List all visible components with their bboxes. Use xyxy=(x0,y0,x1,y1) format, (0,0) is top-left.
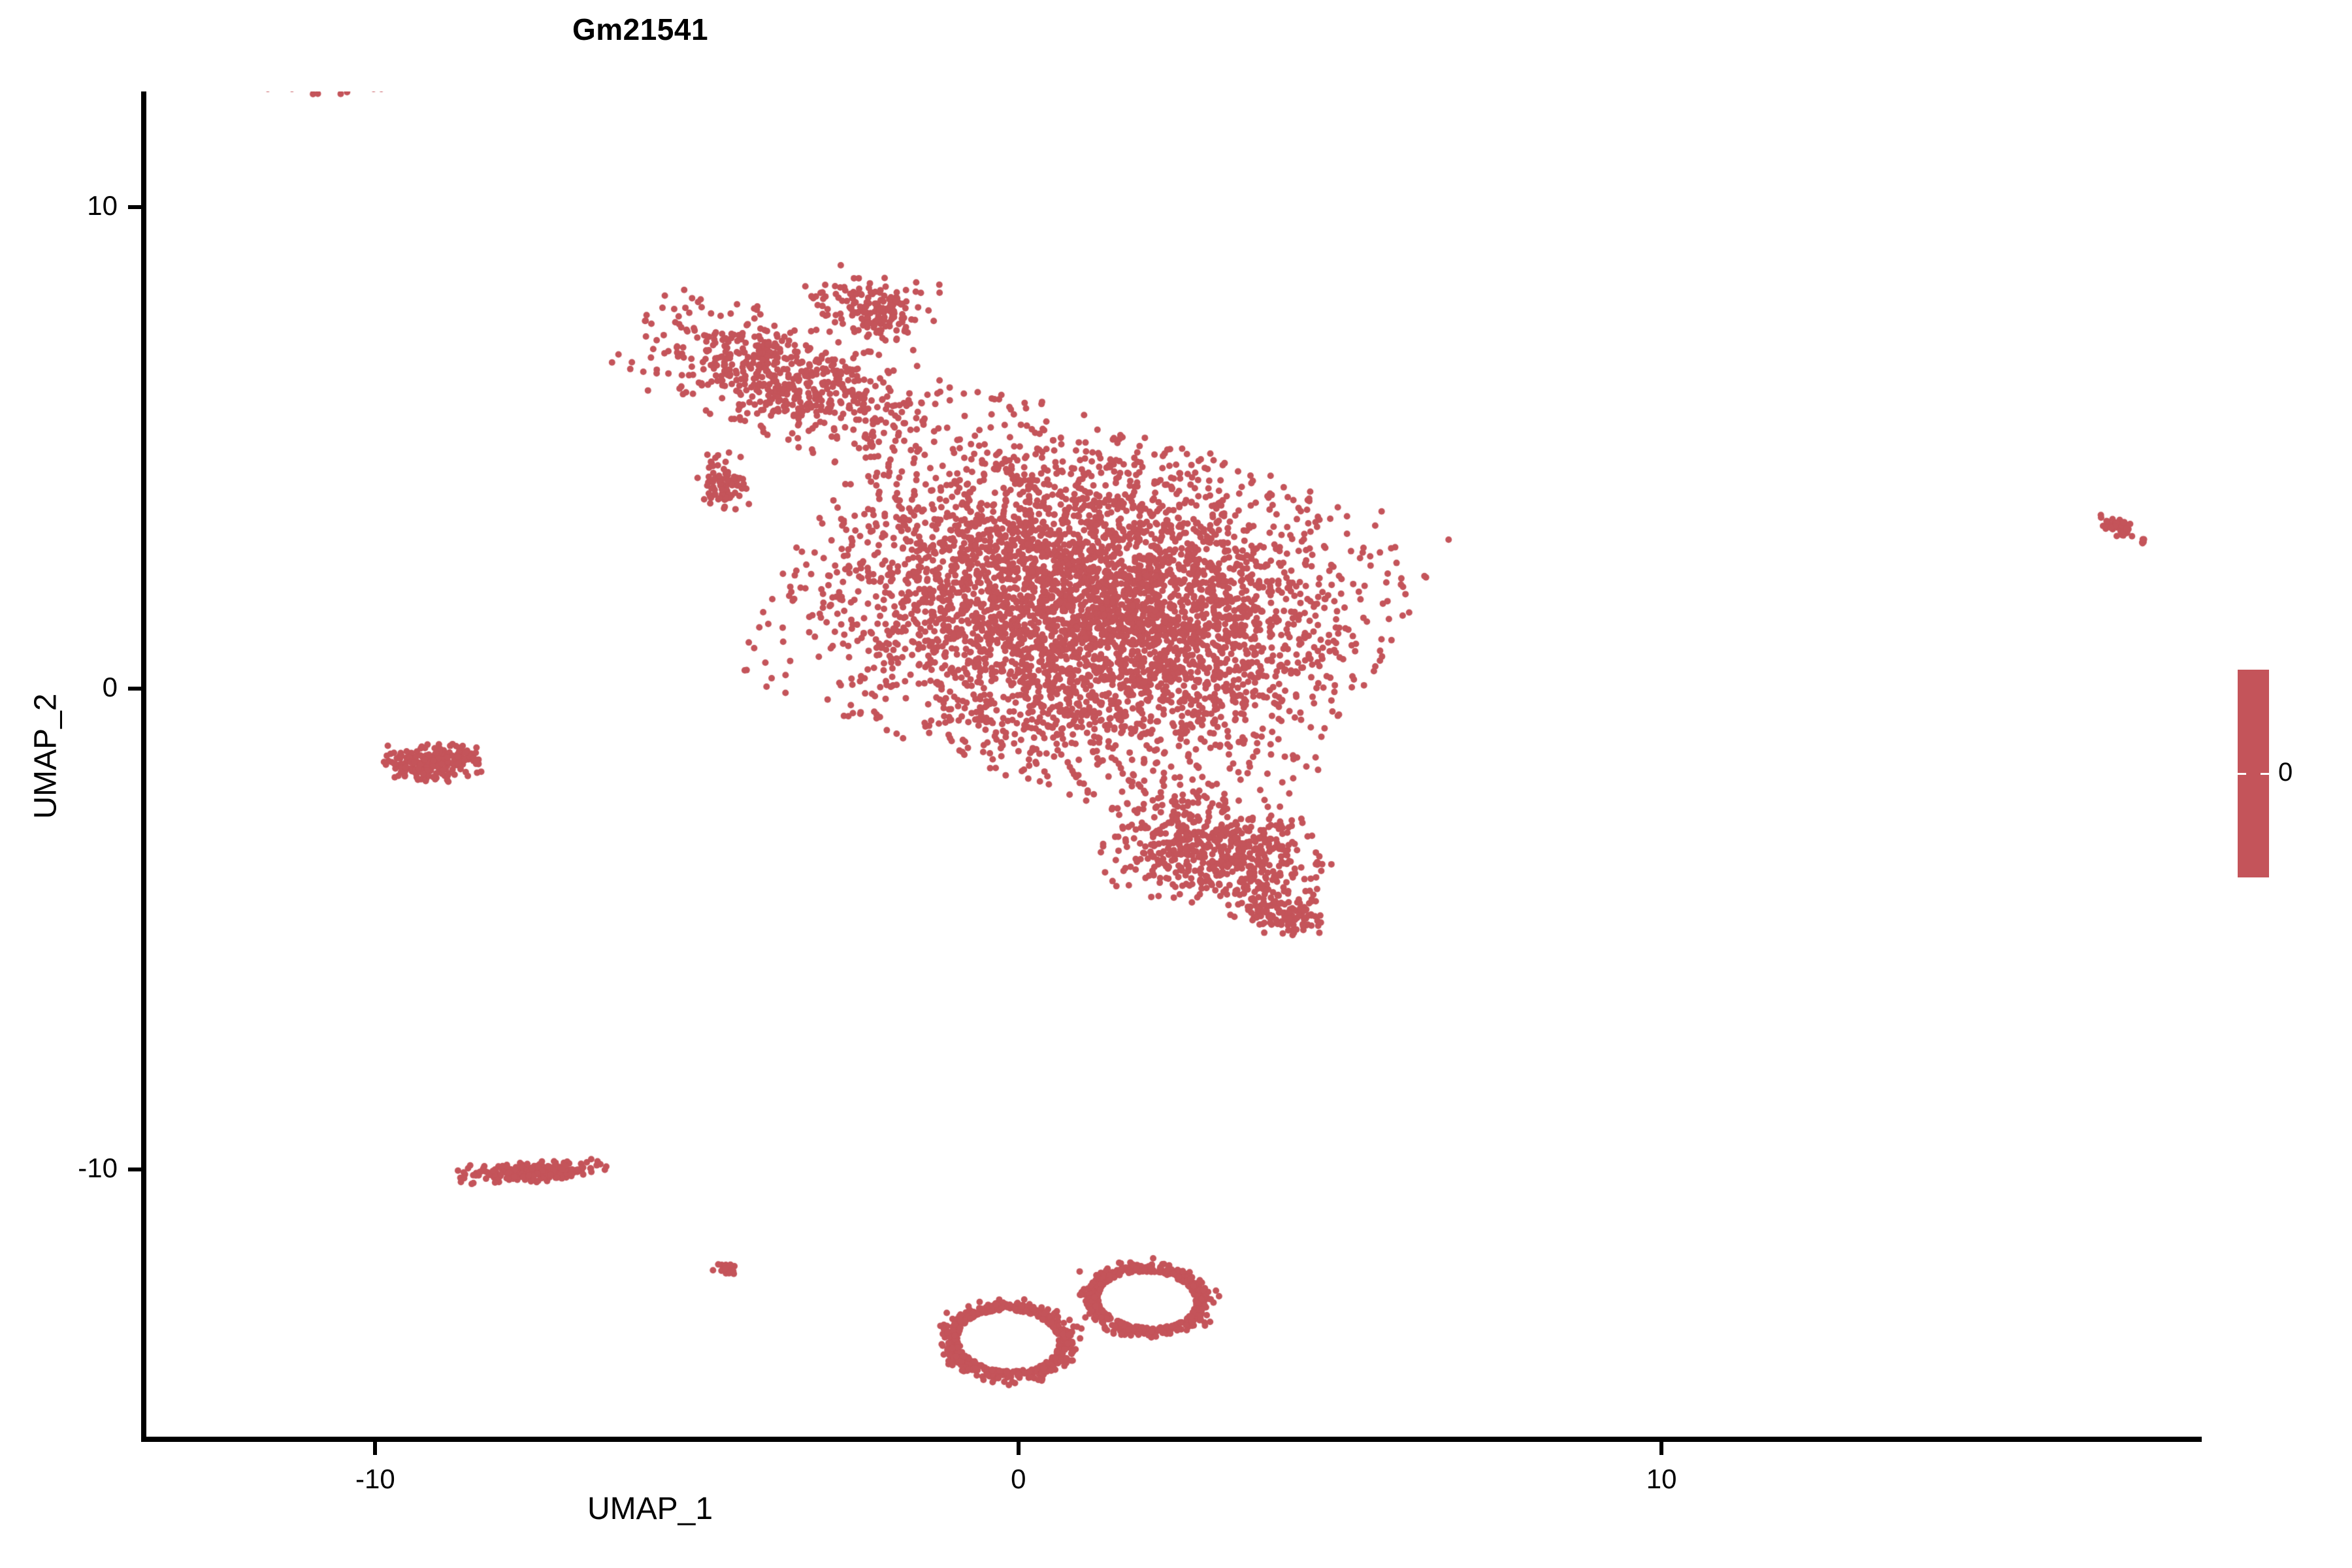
x-axis-title: UMAP_1 xyxy=(0,1491,1826,1527)
y-tick-label: -10 xyxy=(13,1152,118,1184)
legend-colorbar[interactable]: 0 xyxy=(2238,670,2349,885)
y-tick-label: 10 xyxy=(13,190,118,221)
x-tick-mark xyxy=(373,1442,377,1455)
x-tick-mark xyxy=(1659,1442,1663,1455)
y-tick-mark xyxy=(128,205,141,209)
plot-panel xyxy=(144,91,2202,1439)
x-axis-line xyxy=(141,1437,2202,1442)
y-tick-mark xyxy=(128,687,141,691)
y-axis-title: UMAP_2 xyxy=(28,365,64,1149)
legend-gradient-bar xyxy=(2238,670,2269,877)
page-title: Gm21541 xyxy=(0,12,1816,47)
y-axis-line xyxy=(141,91,146,1442)
x-tick-mark xyxy=(1017,1442,1021,1455)
x-tick-label: 0 xyxy=(940,1463,1097,1495)
legend-tick-right xyxy=(2261,773,2269,775)
legend-tick-label: 0 xyxy=(2278,759,2293,785)
x-tick-label: 10 xyxy=(1583,1463,1740,1495)
legend-tick-left xyxy=(2238,773,2246,775)
y-tick-mark xyxy=(128,1168,141,1171)
x-tick-label: -10 xyxy=(297,1463,453,1495)
umap-feature-plot: Gm21541 100-10 -10010 UMAP_1 UMAP_2 0 xyxy=(0,0,2352,1568)
scatter-points-canvas xyxy=(144,91,2202,1439)
